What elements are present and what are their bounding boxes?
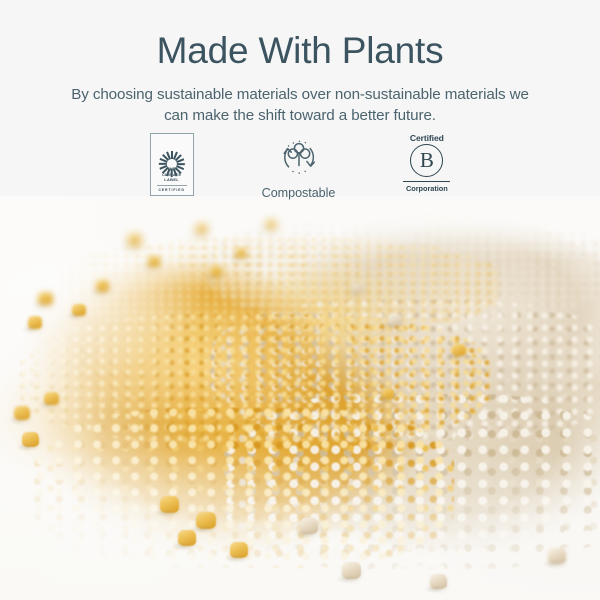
loose-pellet [72,304,86,316]
loose-pellet [382,388,394,399]
climate-label-divider [157,185,187,186]
loose-pellet [196,512,216,529]
certification-badge-row: THE CLIMATE LABEL CERTIFIED [0,133,600,200]
loose-pellet [96,280,109,292]
loose-pellet [300,518,318,534]
bcorp-corporation-text: Corporation [406,184,448,193]
loose-pellet [148,256,160,267]
compostable-clover-arrows-icon [274,135,324,181]
loose-pellet [178,530,196,546]
climate-label-certified-text: CERTIFIED [158,188,184,192]
compostable-label: Compostable [262,186,336,200]
b-corp-icon: B [410,144,443,177]
loose-pellet [230,542,248,558]
loose-pellet [210,266,222,277]
sunburst-icon [159,138,185,164]
bcorp-divider [403,181,450,182]
made-with-plants-poster: Made With Plants By choosing sustainable… [0,0,600,600]
page-title: Made With Plants [0,31,600,72]
hero-text-block: Made With Plants By choosing sustainable… [0,0,600,127]
loose-pellet [266,220,276,229]
badge-b-corporation: Certified B Corporation [403,133,450,193]
badge-compostable: Compostable [262,133,336,200]
bcorp-letter: B [420,150,434,171]
loose-pellet [38,292,53,305]
loose-pellet [430,574,447,589]
page-subtitle: By choosing sustainable materials over n… [0,84,600,127]
climate-label-line-3: LABEL [162,177,181,183]
loose-pellet [196,224,207,234]
loose-pellet [388,314,402,326]
loose-pellet [342,562,361,579]
loose-pellet [14,406,30,420]
loose-pellet [352,282,364,293]
bcorp-certified-text: Certified [410,133,444,143]
loose-pellet [28,316,42,329]
loose-pellet [548,548,566,564]
loose-pellet [452,344,466,356]
loose-pellet [44,392,59,405]
loose-pellet [22,432,39,447]
loose-pellet [128,234,141,246]
loose-pellet [160,496,179,513]
bioplastic-pellets-photo [0,196,600,600]
badge-climate-label: THE CLIMATE LABEL CERTIFIED [150,133,194,196]
loose-pellet [236,248,246,258]
